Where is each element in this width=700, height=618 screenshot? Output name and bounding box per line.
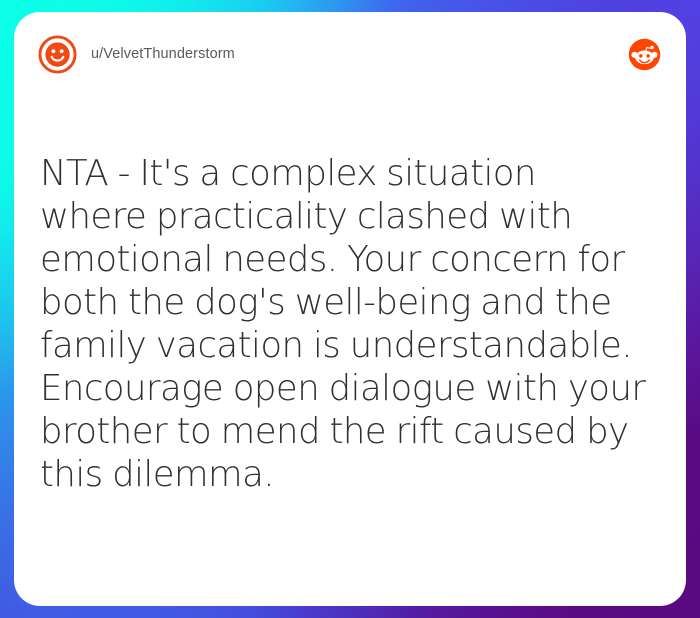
reddit-snoo-icon[interactable]: [627, 37, 662, 72]
post-header: u/VelvetThunderstorm: [14, 12, 686, 96]
post-body: NTA - It's a complex situation where pra…: [40, 152, 650, 496]
post-text: NTA - It's a complex situation where pra…: [40, 152, 650, 496]
screenshot-root: u/VelvetThunderstorm: [0, 0, 700, 618]
smiley-face-avatar-icon[interactable]: [38, 35, 77, 74]
reddit-post-card: u/VelvetThunderstorm: [14, 12, 686, 606]
username-label: u/VelvetThunderstorm: [91, 46, 235, 62]
